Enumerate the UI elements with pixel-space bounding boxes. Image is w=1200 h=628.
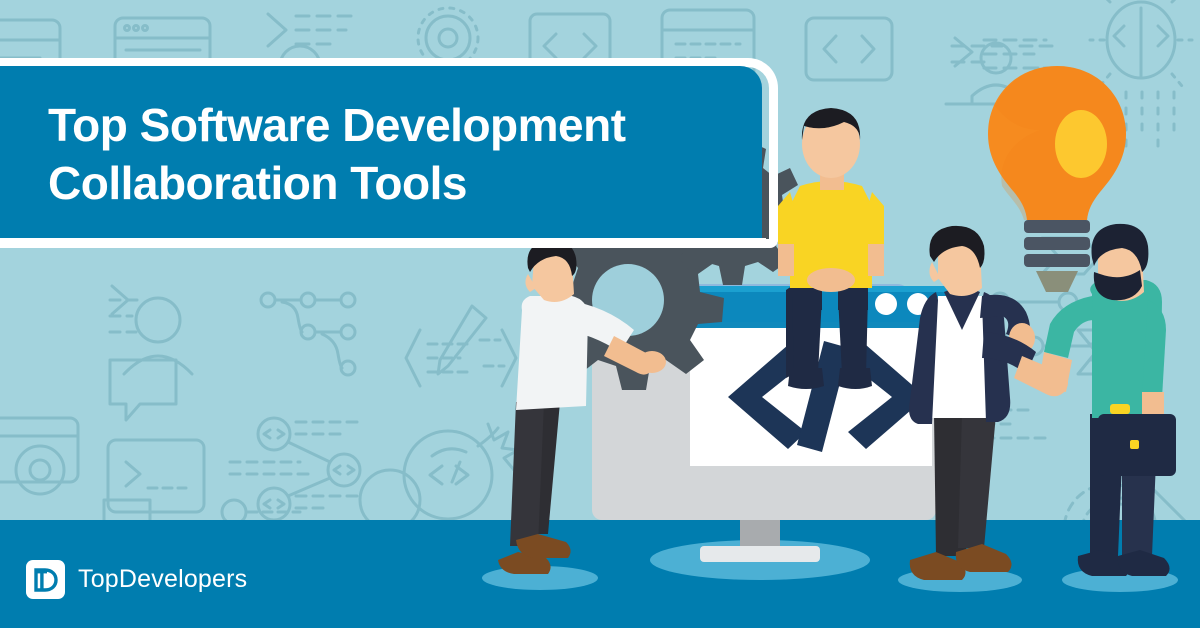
arm [778,244,794,276]
hand [638,351,666,373]
arm [868,244,884,276]
leg [792,296,822,374]
developer-sitting-on-monitor [778,108,884,389]
leg [958,414,996,548]
brand-name: TopDevelopers [78,565,247,594]
developer-holding-gear [498,240,666,574]
shoe [838,368,872,389]
brand-logo[interactable]: TopDevelopers [26,560,247,599]
briefcase-handle [1110,404,1130,414]
arm [1038,352,1072,392]
shoe [788,368,824,389]
page-title: Top Software Development Collaboration T… [48,96,738,212]
sleeve [1044,296,1094,358]
logo-mark-icon [26,560,65,599]
manager-shaking-hands [909,226,1068,580]
banner-graphic: Top Software Development Collaboration T… [0,0,1200,628]
client-with-briefcase [1038,224,1176,576]
hands [807,268,855,292]
banner-underline [0,238,766,248]
td-monogram-icon [33,567,59,593]
leg [838,296,868,374]
briefcase-lock [1130,440,1139,449]
